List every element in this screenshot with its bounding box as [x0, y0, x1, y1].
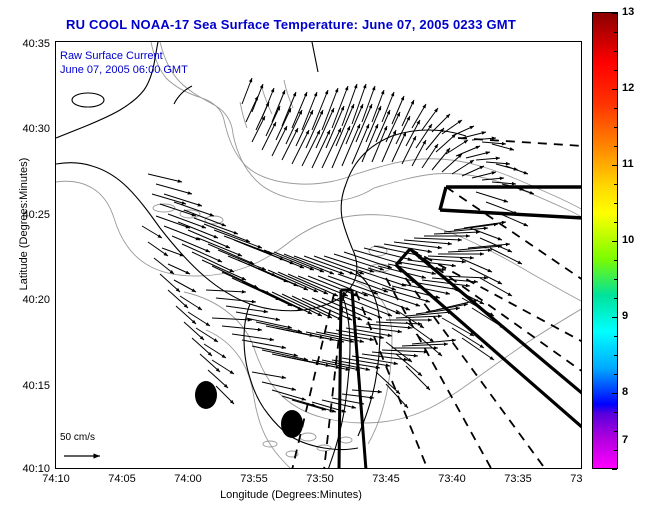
colorbar-minor-tick: [614, 184, 617, 185]
colorbar-minor-tick: [614, 108, 617, 109]
colorbar-minor-tick: [614, 336, 617, 337]
colorbar-tick-label: 13: [622, 6, 634, 18]
x-axis-title: Longitude (Degrees:Minutes): [0, 489, 582, 501]
velocity-scale-label: 50 cm/s: [60, 432, 95, 443]
sst-contours: [56, 42, 582, 469]
annotation-line-1: Raw Surface Current: [60, 50, 163, 62]
colorbar-tick: [612, 165, 617, 166]
colorbar-minor-tick: [614, 146, 617, 147]
colorbar-tick-label: 8: [622, 386, 628, 398]
radar-station-markers: [195, 381, 303, 438]
colorbar-minor-tick: [614, 450, 617, 451]
y-axis-title: Latitude (Degrees:Minutes): [18, 124, 30, 324]
xtick-label: 73:55: [231, 473, 277, 485]
colorbar-minor-tick: [614, 374, 617, 375]
colorbar-tick-label: 9: [622, 310, 628, 322]
colorbar-minor-tick: [614, 431, 617, 432]
surface-current-quiver-field: [142, 78, 534, 412]
ytick-label: 40:15: [6, 380, 50, 392]
radar-station-east: [281, 410, 303, 438]
colorbar-tick: [612, 241, 617, 242]
radar-station-west: [195, 381, 217, 409]
xtick-label: 73:50: [297, 473, 343, 485]
colorbar-tick-label: 12: [622, 82, 634, 94]
colorbar-minor-tick: [614, 70, 617, 71]
colorbar-tick: [612, 469, 617, 470]
colorbar-minor-tick: [614, 51, 617, 52]
colorbar[interactable]: 13 12 11 10 9 8 7: [592, 12, 618, 469]
colorbar-minor-tick: [614, 127, 617, 128]
xtick-label: 74:00: [165, 473, 211, 485]
colorbar-minor-tick: [614, 298, 617, 299]
colorbar-minor-tick: [614, 355, 617, 356]
xtick-label: 73:45: [363, 473, 409, 485]
xtick-label: 73:40: [429, 473, 475, 485]
colorbar-minor-tick: [614, 412, 617, 413]
annotation-line-2: June 07, 2005 06:00 GMT: [60, 64, 188, 76]
colorbar-minor-tick: [614, 32, 617, 33]
colorbar-tick: [612, 13, 617, 14]
map-plot-area[interactable]: [55, 41, 582, 469]
colorbar-tick: [612, 393, 617, 394]
sst-current-figure: RU COOL NOAA-17 Sea Surface Temperature:…: [0, 0, 651, 515]
xtick-label: 73:35: [495, 473, 541, 485]
colorbar-tick: [612, 89, 617, 90]
map-canvas: [56, 42, 582, 469]
colorbar-tick-label: 11: [622, 158, 634, 170]
colorbar-tick-label: 7: [622, 434, 628, 446]
xtick-label: 73:3: [558, 473, 604, 485]
colorbar-minor-tick: [614, 203, 617, 204]
xtick-label: 74:10: [33, 473, 79, 485]
colorbar-minor-tick: [614, 279, 617, 280]
ytick-label: 40:35: [6, 38, 50, 50]
colorbar-tick-label: 10: [622, 234, 634, 246]
page-title: RU COOL NOAA-17 Sea Surface Temperature:…: [0, 17, 582, 32]
colorbar-minor-tick: [614, 260, 617, 261]
colorbar-minor-tick: [614, 222, 617, 223]
xtick-label: 74:05: [99, 473, 145, 485]
colorbar-tick: [612, 317, 617, 318]
